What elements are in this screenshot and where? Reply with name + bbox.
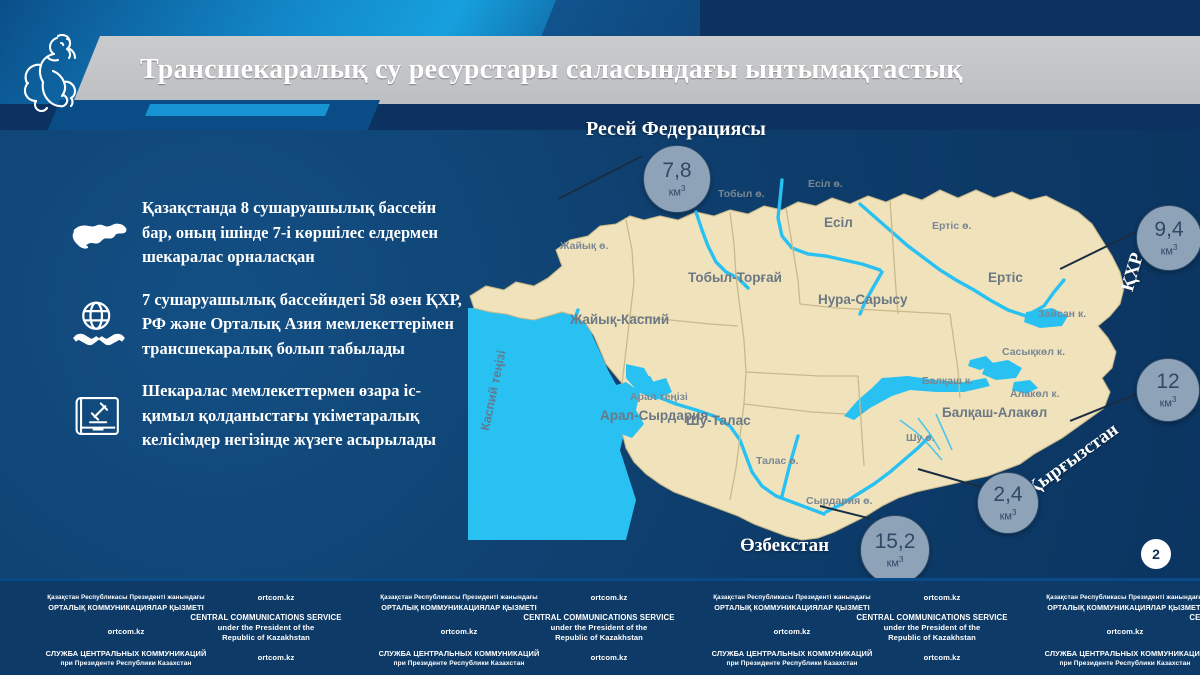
bubble-value: 7,8 <box>662 160 691 181</box>
basin-label: Нура-Сарысу <box>818 292 908 307</box>
bubble-unit: км3 <box>1161 243 1178 258</box>
footer-en-line3: Republic of Kazakhstan <box>1145 633 1200 643</box>
footer-ru-line1: СЛУЖБА ЦЕНТРАЛЬНЫХ КОММУНИКАЦИЙ <box>1005 649 1200 659</box>
water-body-label: Алакөл к. <box>1010 388 1060 400</box>
footer-kz-block: Қазақстан Республикасы Президенті жанынд… <box>339 593 579 612</box>
footer-en-line1: CENTRAL COMMUNICATIONS SERVICE <box>1145 613 1200 623</box>
bubble-value: 12 <box>1156 371 1179 392</box>
water-body-label: Тобыл ө. <box>718 188 765 200</box>
basin-label: Жайық-Каспий <box>570 312 669 327</box>
footer-site-3[interactable]: ortcom.kz <box>882 653 1002 663</box>
bullet-item-agreements: Шекаралас мемлекеттермен өзара іс-қимыл … <box>68 379 468 453</box>
water-body-label: Зайсан к. <box>1038 308 1086 320</box>
footer-kz-line1: Қазақстан Республикасы Президенті жанынд… <box>339 593 579 603</box>
footer-en-block: CENTRAL COMMUNICATIONS SERVICEunder the … <box>1145 613 1200 644</box>
country-label-uzbekistan: Өзбекстан <box>740 535 829 557</box>
bullet-list: Қазақстанда 8 сушаруашылық бассейн бар, … <box>68 196 468 471</box>
footer-site-3[interactable]: ortcom.kz <box>549 653 669 663</box>
water-body-label: Арал теңізі <box>630 391 688 403</box>
footer-ru-line2: при Президенте Республики Казахстан <box>1005 659 1200 669</box>
footer-site-2[interactable]: ortcom.kz <box>216 593 336 603</box>
footer-kz-line2: ОРТАЛЫҚ КОММУНИКАЦИЯЛАР ҚЫЗМЕТІ <box>672 603 912 613</box>
footer-kz-line1: Қазақстан Республикасы Президенті жанынд… <box>6 593 246 603</box>
slide-root: Трансшекаралық су ресурстары саласындағы… <box>0 0 1200 675</box>
bullet-text: 7 сушаруашылық бассейндегі 58 өзен ҚХР, … <box>142 290 462 358</box>
bubble-unit: км3 <box>887 555 904 570</box>
basin-label: Арал-Сырдария <box>600 408 708 423</box>
footer-kz-line2: ОРТАЛЫҚ КОММУНИКАЦИЯЛАР ҚЫЗМЕТІ <box>339 603 579 613</box>
volume-bubble-china-south: 12 км3 <box>1136 358 1200 422</box>
snow-leopard-emblem <box>14 24 84 120</box>
water-body-label: Талас ө. <box>756 455 799 467</box>
footer-ru-block: СЛУЖБА ЦЕНТРАЛЬНЫХ КОММУНИКАЦИЙпри Прези… <box>339 649 579 668</box>
footer-ru-line2: при Президенте Республики Казахстан <box>672 659 912 669</box>
volume-bubble-kyrgyzstan: 2,4 км3 <box>977 472 1039 534</box>
footer-kz-line1: Қазақстан Республикасы Президенті жанынд… <box>672 593 912 603</box>
footer-ru-line1: СЛУЖБА ЦЕНТРАЛЬНЫХ КОММУНИКАЦИЙ <box>339 649 579 659</box>
bubble-unit: км3 <box>1160 395 1177 410</box>
water-body-label: Сырдария ө. <box>806 495 872 507</box>
footer-kz-line2: ОРТАЛЫҚ КОММУНИКАЦИЯЛАР ҚЫЗМЕТІ <box>6 603 246 613</box>
water-body-label: Сасықкөл к. <box>1002 346 1065 358</box>
water-body-label: Жайық ө. <box>560 240 608 252</box>
footer-kz-block: Қазақстан Республикасы Президенті жанынд… <box>6 593 246 612</box>
footer-ru-block: СЛУЖБА ЦЕНТРАЛЬНЫХ КОММУНИКАЦИЙпри Прези… <box>672 649 912 668</box>
volume-bubble-uzbekistan: 15,2 км3 <box>860 515 930 585</box>
slide-header: Трансшекаралық су ресурстары саласындағы… <box>0 0 1200 130</box>
footer-ru-block: СЛУЖБА ЦЕНТРАЛЬНЫХ КОММУНИКАЦИЙпри Прези… <box>6 649 246 668</box>
basin-label: Ертіс <box>988 270 1023 285</box>
bubble-value: 2,4 <box>993 484 1022 505</box>
volume-bubble-china-north: 9,4 км3 <box>1136 205 1200 271</box>
bubble-unit: км3 <box>1000 508 1017 523</box>
water-body-label: Балқаш к. <box>922 375 973 387</box>
bubble-value: 9,4 <box>1154 219 1183 240</box>
footer-ru-line2: при Президенте Республики Казахстан <box>6 659 246 669</box>
law-book-gavel-icon <box>68 387 130 445</box>
water-body-label: Есіл ө. <box>808 178 843 190</box>
bubble-value: 15,2 <box>875 531 916 552</box>
globe-handshake-icon <box>68 296 130 354</box>
water-body-label: Шу ө. <box>906 432 935 444</box>
kazakhstan-map-icon <box>68 204 130 262</box>
basin-label: Тобыл-Торғай <box>688 270 782 285</box>
page-number-badge: 2 <box>1140 538 1172 570</box>
footer-watermark-tile: Қазақстан Республикасы Президенті жанынд… <box>0 581 333 675</box>
bullet-text: Қазақстанда 8 сушаруашылық бассейн бар, … <box>142 198 438 266</box>
footer-site-3[interactable]: ortcom.kz <box>216 653 336 663</box>
basin-label: Есіл <box>824 215 853 230</box>
country-label-russia: Ресей Федерациясы <box>586 118 766 141</box>
footer-ru-line1: СЛУЖБА ЦЕНТРАЛЬНЫХ КОММУНИКАЦИЙ <box>6 649 246 659</box>
footer-site-2[interactable]: ortcom.kz <box>882 593 1002 603</box>
page-title: Трансшекаралық су ресурстары саласындағы… <box>140 48 1160 94</box>
footer-watermark-tile: Қазақстан Республикасы Президенті жанынд… <box>333 581 666 675</box>
bullet-text: Шекаралас мемлекеттермен өзара іс-қимыл … <box>142 381 436 449</box>
bubble-unit: км3 <box>669 184 686 199</box>
water-body-label: Ертіс ө. <box>932 220 971 232</box>
basin-label: Балқаш-Алакөл <box>942 405 1047 420</box>
bullet-item-rivers: 7 сушаруашылық бассейндегі 58 өзен ҚХР, … <box>68 288 468 362</box>
footer-en-line2: under the President of the <box>1145 623 1200 633</box>
bullet-item-basins: Қазақстанда 8 сушаруашылық бассейн бар, … <box>68 196 468 270</box>
header-bottom-cyan-accent <box>145 104 330 116</box>
footer-ru-line2: при Президенте Республики Казахстан <box>339 659 579 669</box>
footer-ru-block: СЛУЖБА ЦЕНТРАЛЬНЫХ КОММУНИКАЦИЙпри Прези… <box>1005 649 1200 668</box>
footer-kz-block: Қазақстан Республикасы Президенті жанынд… <box>672 593 912 612</box>
footer-watermark-tile: Қазақстан Республикасы Президенті жанынд… <box>666 581 999 675</box>
footer-watermark-tile: Қазақстан Республикасы Президенті жанынд… <box>999 581 1200 675</box>
footer-site-2[interactable]: ortcom.kz <box>549 593 669 603</box>
kazakhstan-basin-map: Жайық-КаспийТобыл-ТорғайЕсілНура-СарысуЕ… <box>430 120 1150 570</box>
footer-ru-line1: СЛУЖБА ЦЕНТРАЛЬНЫХ КОММУНИКАЦИЙ <box>672 649 912 659</box>
footer-watermark-band: Қазақстан Республикасы Президенті жанынд… <box>0 578 1200 675</box>
footer-kz-line1: Қазақстан Республикасы Президенті жанынд… <box>1005 593 1200 603</box>
footer-kz-block: Қазақстан Республикасы Президенті жанынд… <box>1005 593 1200 612</box>
volume-bubble-russia: 7,8 км3 <box>643 145 711 213</box>
footer-kz-line2: ОРТАЛЫҚ КОММУНИКАЦИЯЛАР ҚЫЗМЕТІ <box>1005 603 1200 613</box>
